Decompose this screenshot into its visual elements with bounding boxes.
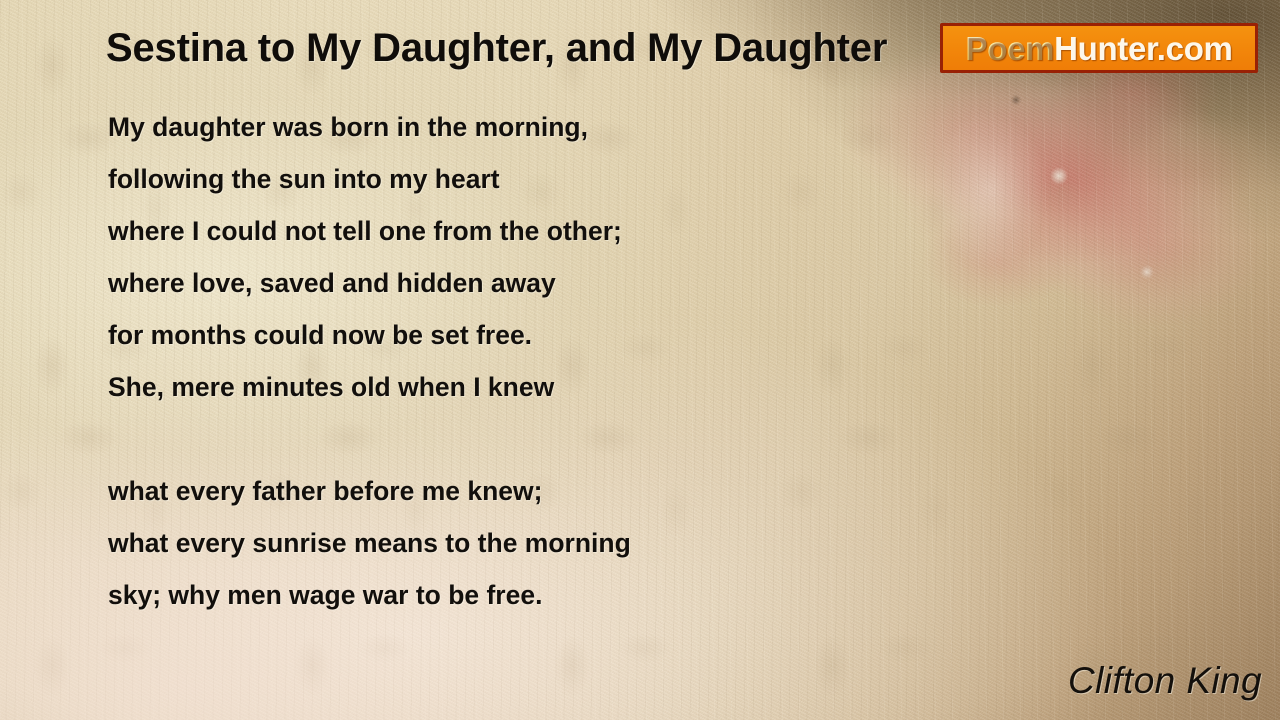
watermark-brand-text: PoemHunter.com — [965, 32, 1232, 65]
watermark-brand-first: Poem — [965, 30, 1054, 67]
poem-author-signature: Clifton King — [1068, 660, 1262, 702]
poem-stanza-break — [108, 420, 928, 472]
poem-line: for months could now be set free. — [108, 316, 928, 368]
poem-line: where I could not tell one from the othe… — [108, 212, 928, 264]
poem-line: sky; why men wage war to be free. — [108, 576, 928, 628]
poem-line: where love, saved and hidden away — [108, 264, 928, 316]
poem-image-canvas: Sestina to My Daughter, and My Daughter … — [0, 0, 1280, 720]
poem-line: what every sunrise means to the morning — [108, 524, 928, 576]
poemhunter-watermark-logo[interactable]: PoemHunter.com — [940, 23, 1258, 73]
poem-line: following the sun into my heart — [108, 160, 928, 212]
poem-line: what every father before me knew; — [108, 472, 928, 524]
poem-line: She, mere minutes old when I knew — [108, 368, 928, 420]
watermark-brand-second: Hunter.com — [1054, 30, 1233, 67]
poem-body: My daughter was born in the morning, fol… — [108, 108, 928, 628]
poem-line: My daughter was born in the morning, — [108, 108, 928, 160]
